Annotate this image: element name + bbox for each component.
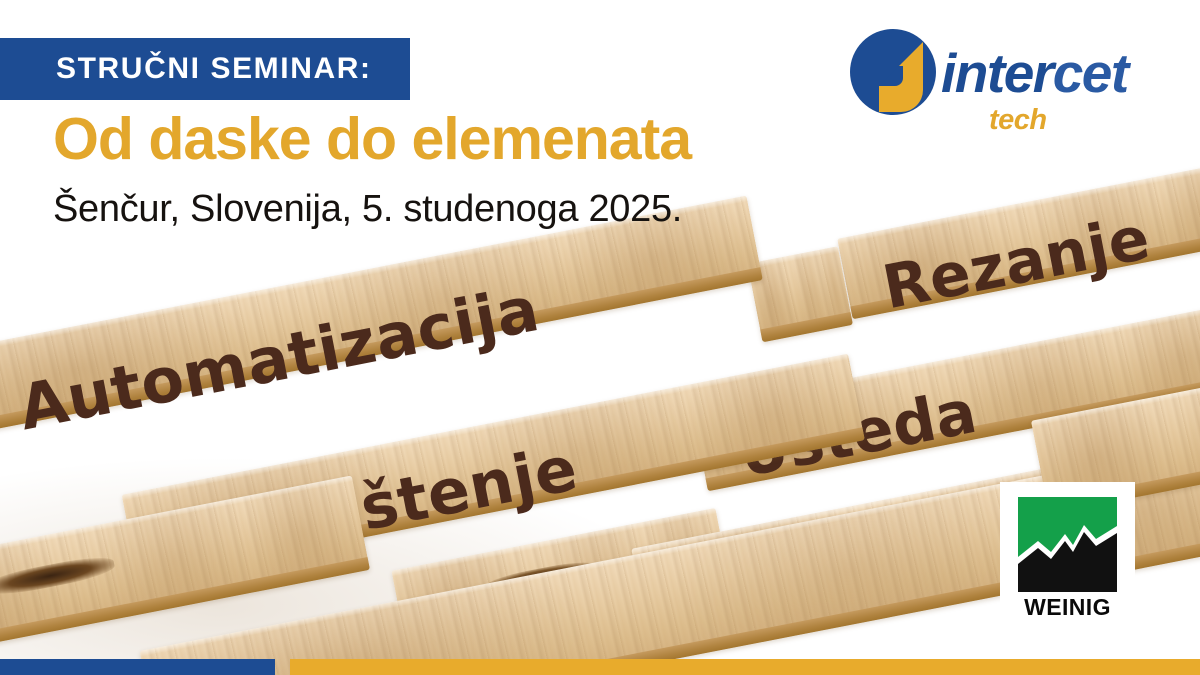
weinig-wordmark: WEINIG — [1000, 594, 1135, 621]
intercet-wordmark: intercet — [941, 46, 1128, 101]
wood-knot — [187, 517, 216, 540]
footer-bar-gold — [290, 659, 1200, 675]
wordmark-part-inter: inter — [941, 42, 1053, 104]
eyebrow-label: STRUČNI SEMINAR: — [56, 52, 372, 86]
wood-knot — [588, 422, 637, 458]
page-subtitle: Šenčur, Slovenija, 5. studenoga 2025. — [53, 188, 682, 231]
seminar-promo-banner: Rezanje Automatizacija Ušteda — [0, 0, 1200, 675]
intercet-tagline: tech — [989, 104, 1047, 137]
wood-knot — [0, 553, 116, 599]
wordmark-part-cet: cet — [1053, 42, 1128, 104]
intercet-circle-mark-icon — [849, 28, 937, 116]
eyebrow-badge: STRUČNI SEMINAR: — [0, 38, 410, 100]
intercet-logo[interactable]: intercet tech — [849, 28, 1149, 140]
wood-knot — [697, 576, 741, 609]
footer-bar-blue — [0, 659, 275, 675]
weinig-logo[interactable]: WEINIG — [1000, 482, 1135, 645]
wood-knot — [776, 269, 820, 302]
weinig-mountain-mark-icon — [1018, 497, 1117, 592]
page-title: Od daske do elemenata — [53, 110, 691, 169]
wood-knot — [1020, 359, 1070, 395]
